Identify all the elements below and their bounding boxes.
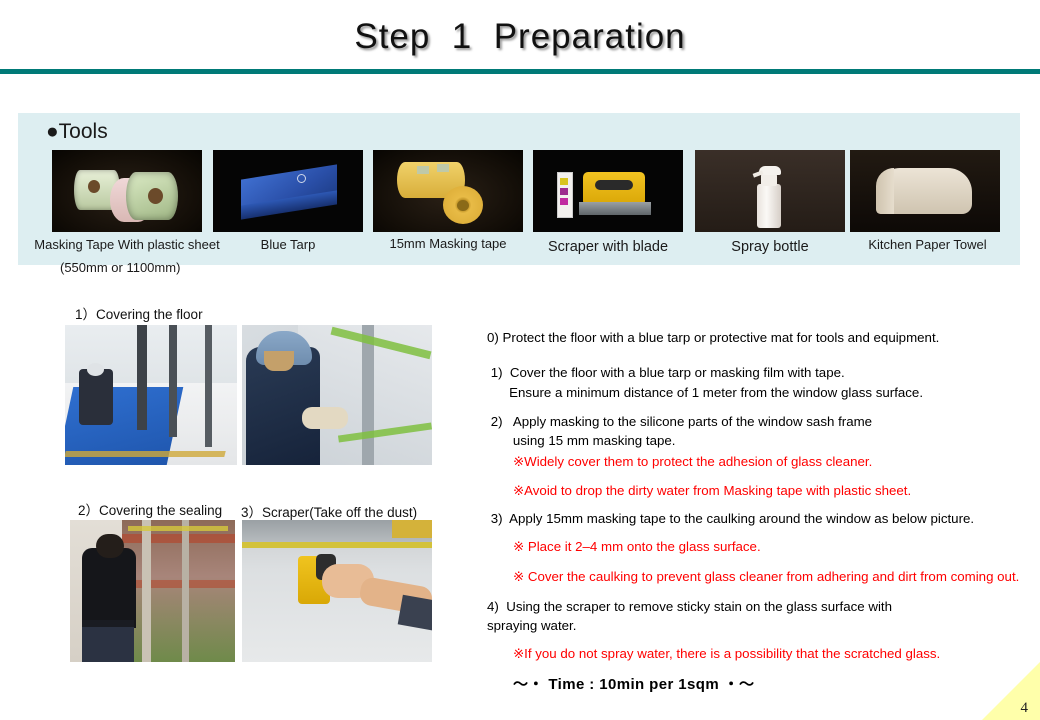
instruction-line: 0) Protect the floor with a blue tarp or… xyxy=(487,328,1040,347)
step-photo-covering-sealing xyxy=(70,520,235,662)
step-photo-covering-floor-b xyxy=(242,325,432,465)
tool-label-1: Blue Tarp xyxy=(213,237,363,252)
instruction-line: 1) Cover the floor with a blue tarp or m… xyxy=(487,363,1040,382)
instruction-line: Ensure a minimum distance of 1 meter fro… xyxy=(487,383,1040,402)
step-photo-scraper-dust xyxy=(242,520,432,662)
title-divider xyxy=(0,69,1040,74)
instruction-line: ※Widely cover them to protect the adhesi… xyxy=(513,452,1040,471)
instruction-line: 4) Using the scraper to remove sticky st… xyxy=(487,597,1040,616)
instruction-line: using 15 mm masking tape. xyxy=(487,431,1040,450)
instructions-list: 0) Protect the floor with a blue tarp or… xyxy=(487,328,1040,696)
step-caption-3: 3）Scraper(Take off the dust) xyxy=(241,501,417,521)
instruction-line: 3) Apply 15mm masking tape to the caulki… xyxy=(487,509,1040,528)
step-caption-1: 1）Covering the floor xyxy=(75,303,203,323)
tool-photo-masking-tape-rolls xyxy=(52,150,202,232)
instruction-line: ※ Cover the caulking to prevent glass cl… xyxy=(513,567,1040,586)
step-photo-covering-floor-a xyxy=(65,325,237,465)
tool-label-5: Kitchen Paper Towel xyxy=(850,237,1005,252)
tool-label-4: Spray bottle xyxy=(695,239,845,255)
tool-label-3: Scraper with blade xyxy=(533,239,683,255)
instruction-line: ※If you do not spray water, there is a p… xyxy=(513,644,1040,663)
tool-label-0: Masking Tape With plastic sheet xyxy=(32,237,222,252)
tool-photo-paper-towel xyxy=(850,150,1000,232)
instruction-line: 〜・ Time : 10min per 1sqm ・〜 xyxy=(513,674,1040,696)
tool-photo-spray-bottle xyxy=(695,150,845,232)
tools-heading: ●Tools xyxy=(46,120,108,144)
tool-photo-scraper xyxy=(533,150,683,232)
page-title: Step 1 Preparation xyxy=(0,17,1040,57)
instruction-line: ※Avoid to drop the dirty water from Mask… xyxy=(513,481,1040,500)
tool-label-2: 15mm Masking tape xyxy=(373,236,523,251)
instruction-line: ※ Place it 2–4 mm onto the glass surface… xyxy=(513,537,1040,556)
corner-decoration xyxy=(982,662,1040,720)
tool-subcaption: (550mm or 1100mm) xyxy=(60,260,180,275)
tool-photo-masking-tape xyxy=(373,150,523,232)
page-number: 4 xyxy=(1021,700,1029,717)
step-caption-2: 2）Covering the sealing xyxy=(78,499,222,519)
tool-photo-blue-tarp xyxy=(213,150,363,232)
instruction-line: 2) Apply masking to the silicone parts o… xyxy=(487,412,1040,431)
instruction-line: spraying water. xyxy=(487,616,1040,635)
